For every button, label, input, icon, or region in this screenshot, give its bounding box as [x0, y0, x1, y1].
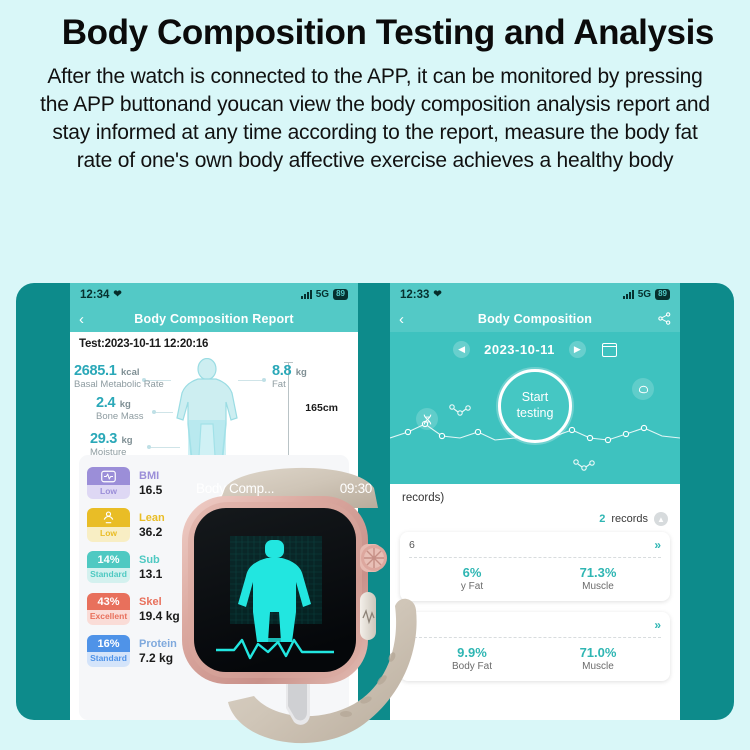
- right-app-bar: ‹ Body Composition: [390, 306, 680, 332]
- record-stat: 71.0% Muscle: [535, 645, 661, 672]
- record-stat-label: Muscle: [535, 581, 661, 592]
- start-testing-line1: Start: [522, 390, 548, 406]
- left-app-bar: ‹ Body Composition Report: [70, 306, 358, 332]
- status-badge-percent: 14%: [87, 551, 130, 568]
- chevron-left-icon[interactable]: ◀: [453, 341, 470, 358]
- metric-bmr-unit: kcal: [121, 367, 140, 378]
- metric-bmr: 2685.1 kcal Basal Metabolic Rate: [74, 362, 164, 390]
- list-item-name: BMI: [139, 470, 162, 482]
- start-testing-button[interactable]: Start testing: [498, 369, 572, 443]
- left-status-time: 12:34: [80, 289, 109, 301]
- list-item-value: 36.2: [139, 525, 165, 539]
- signal-bars-icon: [301, 290, 312, 299]
- record-stat-label: Muscle: [535, 661, 661, 672]
- record-card-header: 6 »: [409, 538, 661, 558]
- records-count-label: records: [611, 513, 648, 525]
- test-timestamp: Test:2023-10-11 12:20:16: [70, 332, 358, 352]
- hero-section: ◀ 2023-10-11 ▶: [390, 332, 680, 484]
- list-item-value: 13.1: [139, 567, 162, 581]
- chevron-double-right-icon[interactable]: »: [654, 538, 661, 552]
- calendar-icon[interactable]: [602, 343, 617, 357]
- height-value: 165cm: [305, 402, 338, 414]
- watch-face-time: 09:30: [340, 481, 372, 496]
- list-item-info: BMI 16.5: [139, 470, 162, 497]
- metric-bone-mass-value: 2.4: [96, 395, 115, 411]
- status-badge-percent: 16%: [87, 635, 130, 652]
- watch-crown-icon: [360, 544, 387, 572]
- record-stats: 6% y Fat 71.3% Muscle: [409, 558, 661, 592]
- record-stat-value: 71.3%: [535, 565, 661, 580]
- signal-bars-icon: [623, 290, 634, 299]
- network-label: 5G: [638, 289, 651, 300]
- list-item-info: Sub 13.1: [139, 554, 162, 581]
- list-item-name: Lean: [139, 512, 165, 524]
- leader-line: [155, 412, 173, 413]
- metric-moisture-unit: kg: [121, 435, 132, 446]
- page-subtitle: After the watch is connected to the APP,…: [36, 63, 714, 175]
- leader-line: [238, 380, 264, 381]
- record-stats: 9.9% Body Fat 71.0% Muscle: [409, 638, 661, 672]
- status-badge: 43% Excellent: [87, 593, 130, 624]
- leader-dot: [262, 378, 266, 382]
- record-card[interactable]: 6 » 6% y Fat 71.3% Muscle: [400, 532, 670, 601]
- battery-icon: 89: [333, 289, 348, 300]
- status-badge-label: Low: [87, 485, 130, 499]
- left-status-bar: 12:34 ❤ 5G 89: [70, 283, 358, 306]
- leader-dot: [147, 445, 151, 449]
- metric-bmr-label: Basal Metabolic Rate: [74, 379, 164, 390]
- chevron-double-right-icon[interactable]: »: [654, 618, 661, 632]
- watch-face-title: Body Comp...: [196, 481, 274, 496]
- right-app-title: Body Composition: [390, 312, 680, 326]
- leader-line: [150, 447, 180, 448]
- metric-bone-mass: 2.4 kg Bone Mass: [96, 394, 144, 422]
- share-icon[interactable]: [658, 312, 671, 327]
- status-badge-label: Excellent: [87, 610, 130, 624]
- status-badge-label: Low: [87, 527, 130, 541]
- leader-dot: [152, 410, 156, 414]
- selected-date: 2023-10-11: [484, 342, 555, 357]
- battery-icon: 89: [655, 289, 670, 300]
- right-status-bar: 12:33 ❤ 5G 89: [390, 283, 680, 306]
- metric-moisture-value: 29.3: [90, 431, 117, 447]
- watch-face-header: Body Comp... 09:30: [196, 481, 372, 496]
- date-navigator: ◀ 2023-10-11 ▶: [390, 332, 680, 358]
- network-label: 5G: [316, 289, 329, 300]
- heart-icon: ❤: [113, 289, 121, 300]
- status-badge-percent: 43%: [87, 593, 130, 610]
- status-badge: 14% Standard: [87, 551, 130, 582]
- metric-fat-label: Fat: [272, 379, 307, 390]
- metric-bone-mass-unit: kg: [120, 399, 131, 410]
- record-card-header: »: [409, 618, 661, 638]
- metric-fat-unit: kg: [296, 367, 307, 378]
- metric-fat: 8.8 kg Fat: [272, 362, 307, 390]
- records-count-row[interactable]: 2 records ▲: [400, 504, 670, 532]
- start-testing-line2: testing: [517, 406, 554, 422]
- chevron-right-icon[interactable]: ▶: [569, 341, 586, 358]
- metric-bone-mass-label: Bone Mass: [96, 411, 144, 422]
- dna-icon: [416, 408, 438, 430]
- list-item-name: Sub: [139, 554, 162, 566]
- right-status-time: 12:33: [400, 289, 429, 301]
- status-badge-label: Standard: [87, 652, 130, 666]
- muscle-icon: [632, 378, 654, 400]
- status-badge-label: Standard: [87, 568, 130, 582]
- lean-body-icon: [87, 508, 130, 527]
- header: Body Composition Testing and Analysis Af…: [0, 0, 750, 175]
- status-badge: Low: [87, 467, 130, 499]
- records-section: records) 2 records ▲ 6 » 6% y Fat 71.3: [390, 484, 680, 720]
- status-badge: Low: [87, 508, 130, 541]
- metric-moisture: 29.3 kg Moisture: [90, 430, 133, 458]
- records-header: records): [400, 484, 670, 504]
- record-card[interactable]: » 9.9% Body Fat 71.0% Muscle: [400, 612, 670, 681]
- smartwatch-product-photo: Body Comp... 09:30: [168, 452, 430, 750]
- metric-bmr-value: 2685.1: [74, 363, 117, 379]
- record-stat-value: 71.0%: [535, 645, 661, 660]
- phone-right-screenshot: 12:33 ❤ 5G 89 ‹ Body Composition ◀ 2023-…: [390, 283, 680, 720]
- list-item-value: 16.5: [139, 483, 162, 497]
- chevron-up-icon[interactable]: ▲: [654, 512, 668, 526]
- list-item-info: Lean 36.2: [139, 512, 165, 539]
- records-count-number: 2: [599, 513, 605, 525]
- left-app-title: Body Composition Report: [70, 312, 358, 326]
- record-stat: 71.3% Muscle: [535, 565, 661, 592]
- metric-fat-value: 8.8: [272, 363, 291, 379]
- page-title: Body Composition Testing and Analysis: [36, 14, 714, 51]
- heart-icon: ❤: [433, 289, 441, 300]
- bmi-icon: [87, 467, 130, 485]
- status-badge: 16% Standard: [87, 635, 130, 666]
